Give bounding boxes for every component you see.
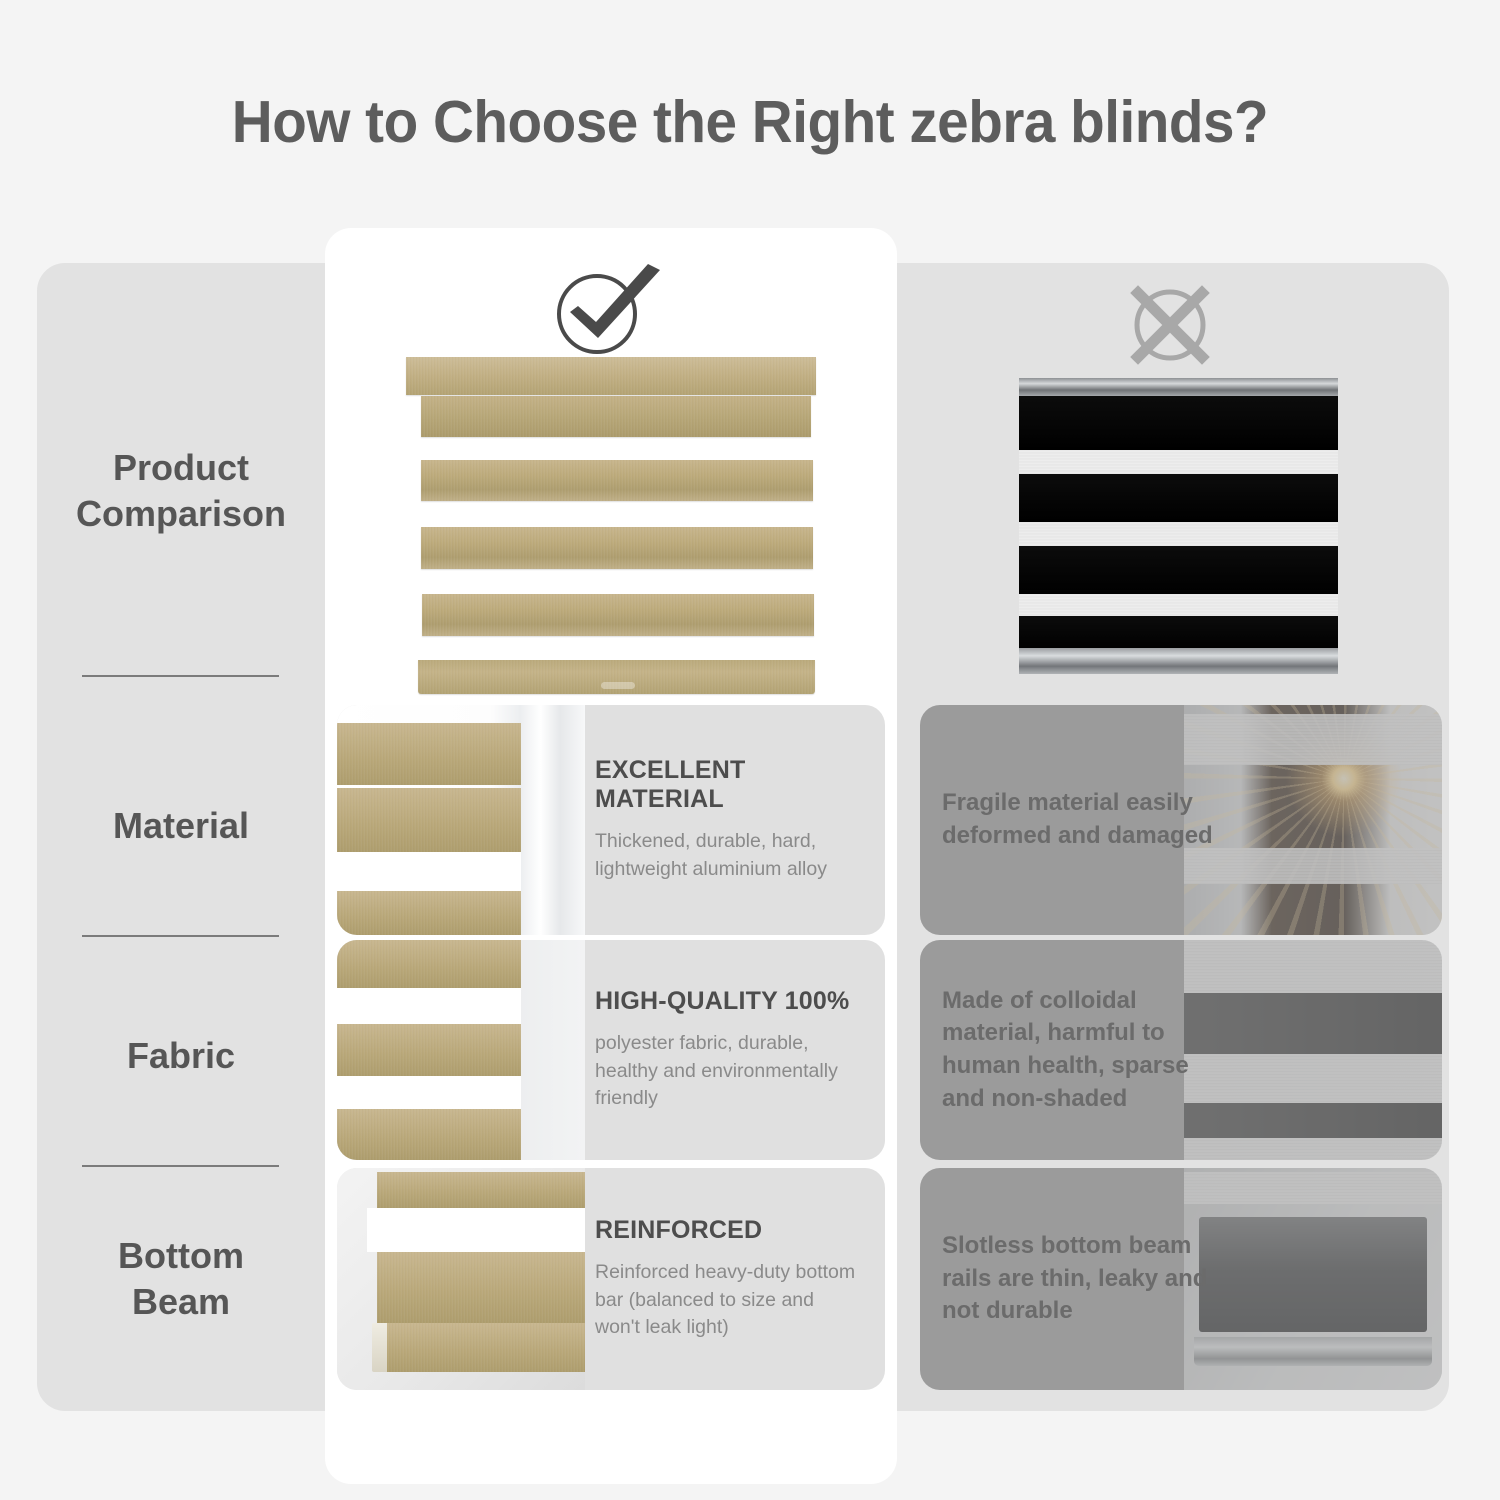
headrail	[1019, 378, 1338, 398]
beige-zebra-blind-hero-image	[404, 357, 818, 699]
feature-text: Made of colloidal material, harmful to h…	[942, 985, 1214, 1116]
sidebar-divider	[82, 1165, 279, 1167]
feature-card-bottom-beam-bad: Slotless bottom beam rails are thin, lea…	[920, 1168, 1442, 1390]
category-sidebar: ProductComparison Material Fabric Bottom…	[37, 263, 325, 1411]
feature-body: Thickened, durable, hard, lightweight al…	[595, 828, 859, 883]
beige-blind-aluminium-headrail-closeup	[337, 705, 585, 935]
sidebar-item-material: Material	[37, 803, 325, 849]
blind-sheer-band	[1019, 522, 1338, 546]
blind-slat	[421, 460, 813, 501]
bottom-rail	[1019, 648, 1338, 674]
feature-heading: HIGH-QUALITY 100%	[595, 987, 859, 1016]
blind-slat	[421, 527, 813, 569]
blind-black-band	[1019, 616, 1338, 650]
blind-slat	[422, 594, 814, 636]
check-circle-icon	[548, 262, 676, 358]
feature-text: Slotless bottom beam rails are thin, lea…	[942, 1230, 1214, 1328]
sidebar-label-bottom-beam: BottomBeam	[118, 1235, 244, 1322]
blind-black-band	[1019, 474, 1338, 522]
black-zebra-blind-hero-image	[1019, 378, 1338, 674]
cross-circle-icon	[1124, 282, 1216, 368]
feature-heading: EXCELLENT MATERIAL	[595, 756, 859, 814]
feature-card-fabric-good: HIGH-QUALITY 100% polyester fabric, dura…	[337, 940, 885, 1160]
page-title: How to Choose the Right zebra blinds?	[30, 88, 1470, 156]
blind-sheer-band	[1019, 594, 1338, 616]
beige-zebra-fabric-closeup	[337, 940, 585, 1160]
sidebar-label-product-comparison: ProductComparison	[76, 447, 286, 534]
sidebar-item-fabric: Fabric	[37, 1033, 325, 1079]
headrail	[406, 357, 816, 395]
blind-slat	[421, 396, 811, 437]
feature-heading: REINFORCED	[595, 1216, 859, 1245]
sidebar-item-bottom-beam: BottomBeam	[37, 1233, 325, 1325]
feature-body: Reinforced heavy-duty bottom bar (balanc…	[595, 1259, 859, 1342]
sidebar-item-product-comparison: ProductComparison	[37, 445, 325, 537]
blind-sheer-band	[1019, 450, 1338, 474]
sidebar-label-fabric: Fabric	[127, 1035, 235, 1076]
sidebar-divider	[82, 675, 279, 677]
feature-card-material-good: EXCELLENT MATERIAL Thickened, durable, h…	[337, 705, 885, 935]
blind-black-band	[1019, 396, 1338, 450]
blind-black-band	[1019, 546, 1338, 594]
feature-card-bottom-beam-good: REINFORCED Reinforced heavy-duty bottom …	[337, 1168, 885, 1390]
feature-card-fabric-bad: Made of colloidal material, harmful to h…	[920, 940, 1442, 1160]
sidebar-divider	[82, 935, 279, 937]
reinforced-bottom-bar-closeup	[337, 1168, 585, 1390]
bottom-bar	[418, 660, 815, 694]
feature-card-material-bad: Fragile material easily deformed and dam…	[920, 705, 1442, 935]
sidebar-label-material: Material	[113, 805, 249, 846]
feature-body: polyester fabric, durable, healthy and e…	[595, 1030, 859, 1113]
feature-text: Fragile material easily deformed and dam…	[942, 787, 1214, 852]
